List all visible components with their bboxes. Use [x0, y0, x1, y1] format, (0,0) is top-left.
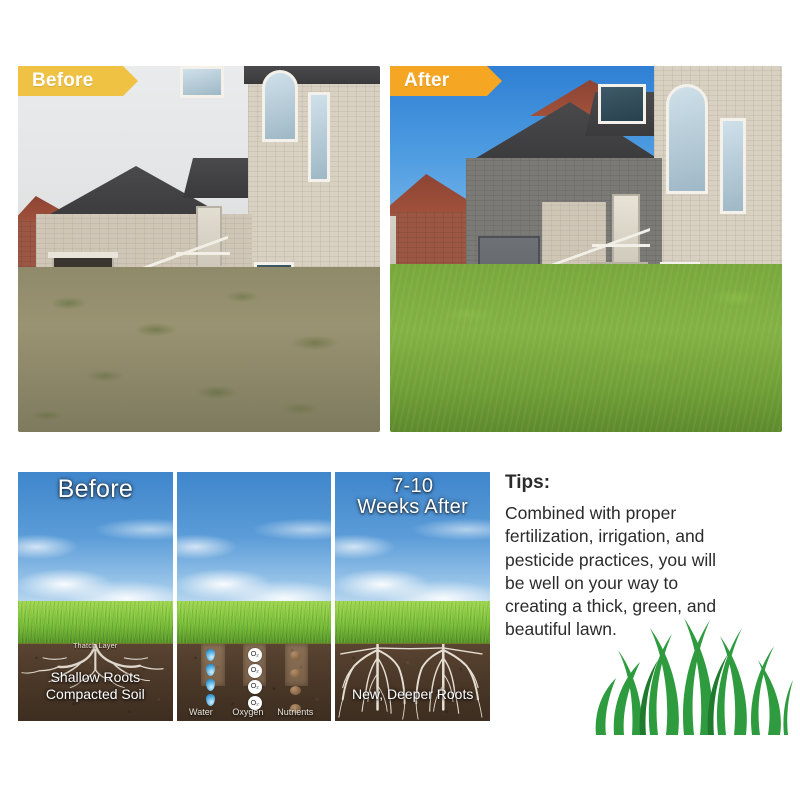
caption-line-2: Compacted Soil	[18, 686, 173, 703]
after-badge-label: After	[404, 70, 449, 92]
window-upper-after	[598, 84, 646, 124]
window-arch-top-after	[666, 84, 708, 194]
garage-frame	[48, 252, 118, 258]
before-badge: Before	[18, 66, 138, 96]
panel-grass	[18, 601, 173, 646]
window-upper-left	[180, 66, 224, 98]
porch-railing	[176, 252, 230, 257]
oxygen-molecule-icon: O₂	[248, 664, 262, 678]
caption-line-1: Shallow Roots	[18, 669, 173, 686]
nutrient-granule-icon	[290, 651, 301, 660]
window-tall-right-after	[720, 118, 746, 214]
before-badge-label: Before	[32, 70, 93, 92]
window-arch-top	[262, 70, 298, 142]
panel-after-caption: New, Deeper Roots	[335, 686, 490, 703]
after-title-line-1: 7-10	[335, 476, 490, 497]
after-title-line-2: Weeks After	[335, 497, 490, 518]
diagram-panel-before: Before Thatch Layer Shallow Roots Compac…	[18, 472, 173, 721]
panel-grass	[335, 601, 490, 646]
panel-before-caption: Shallow Roots Compacted Soil	[18, 669, 173, 703]
nutrient-granule-icon	[290, 669, 301, 678]
panel-before-title: Before	[18, 476, 173, 502]
diagram-panel-inputs: O₂ O₂ O₂ O₂ Water Oxygen Nutrients	[177, 472, 332, 721]
nutrient-granule-icon	[290, 686, 301, 695]
panel-grass	[177, 601, 332, 646]
after-photo	[390, 66, 782, 432]
diagram-panel-after: 7-10 Weeks After New, Deeper Roots	[335, 472, 490, 721]
before-photo	[18, 66, 380, 432]
oxygen-molecule-icon: O₂	[248, 680, 262, 694]
deep-roots-illustration	[335, 644, 490, 721]
dead-lawn	[18, 267, 380, 432]
tips-heading: Tips:	[505, 472, 735, 494]
thatch-layer-label: Thatch Layer	[18, 643, 173, 650]
oxygen-molecule-icon: O₂	[248, 648, 262, 662]
nutrients-column-label: Nutrients	[277, 707, 313, 717]
panel-after-title: 7-10 Weeks After	[335, 476, 490, 518]
porch-railing-after	[592, 244, 650, 249]
window-tall-right	[308, 92, 330, 182]
water-column-label: Water	[189, 707, 213, 717]
soil-cross-section-diagram: Before Thatch Layer Shallow Roots Compac…	[18, 472, 490, 721]
after-badge: After	[390, 66, 502, 96]
tips-body: Combined with proper fertilization, irri…	[505, 502, 735, 642]
nutrient-channel	[285, 644, 308, 686]
panel-sky	[177, 472, 332, 616]
green-lawn	[390, 264, 782, 432]
oxygen-column-label: Oxygen	[232, 707, 263, 717]
tips-block: Tips: Combined with proper fertilization…	[505, 472, 735, 642]
